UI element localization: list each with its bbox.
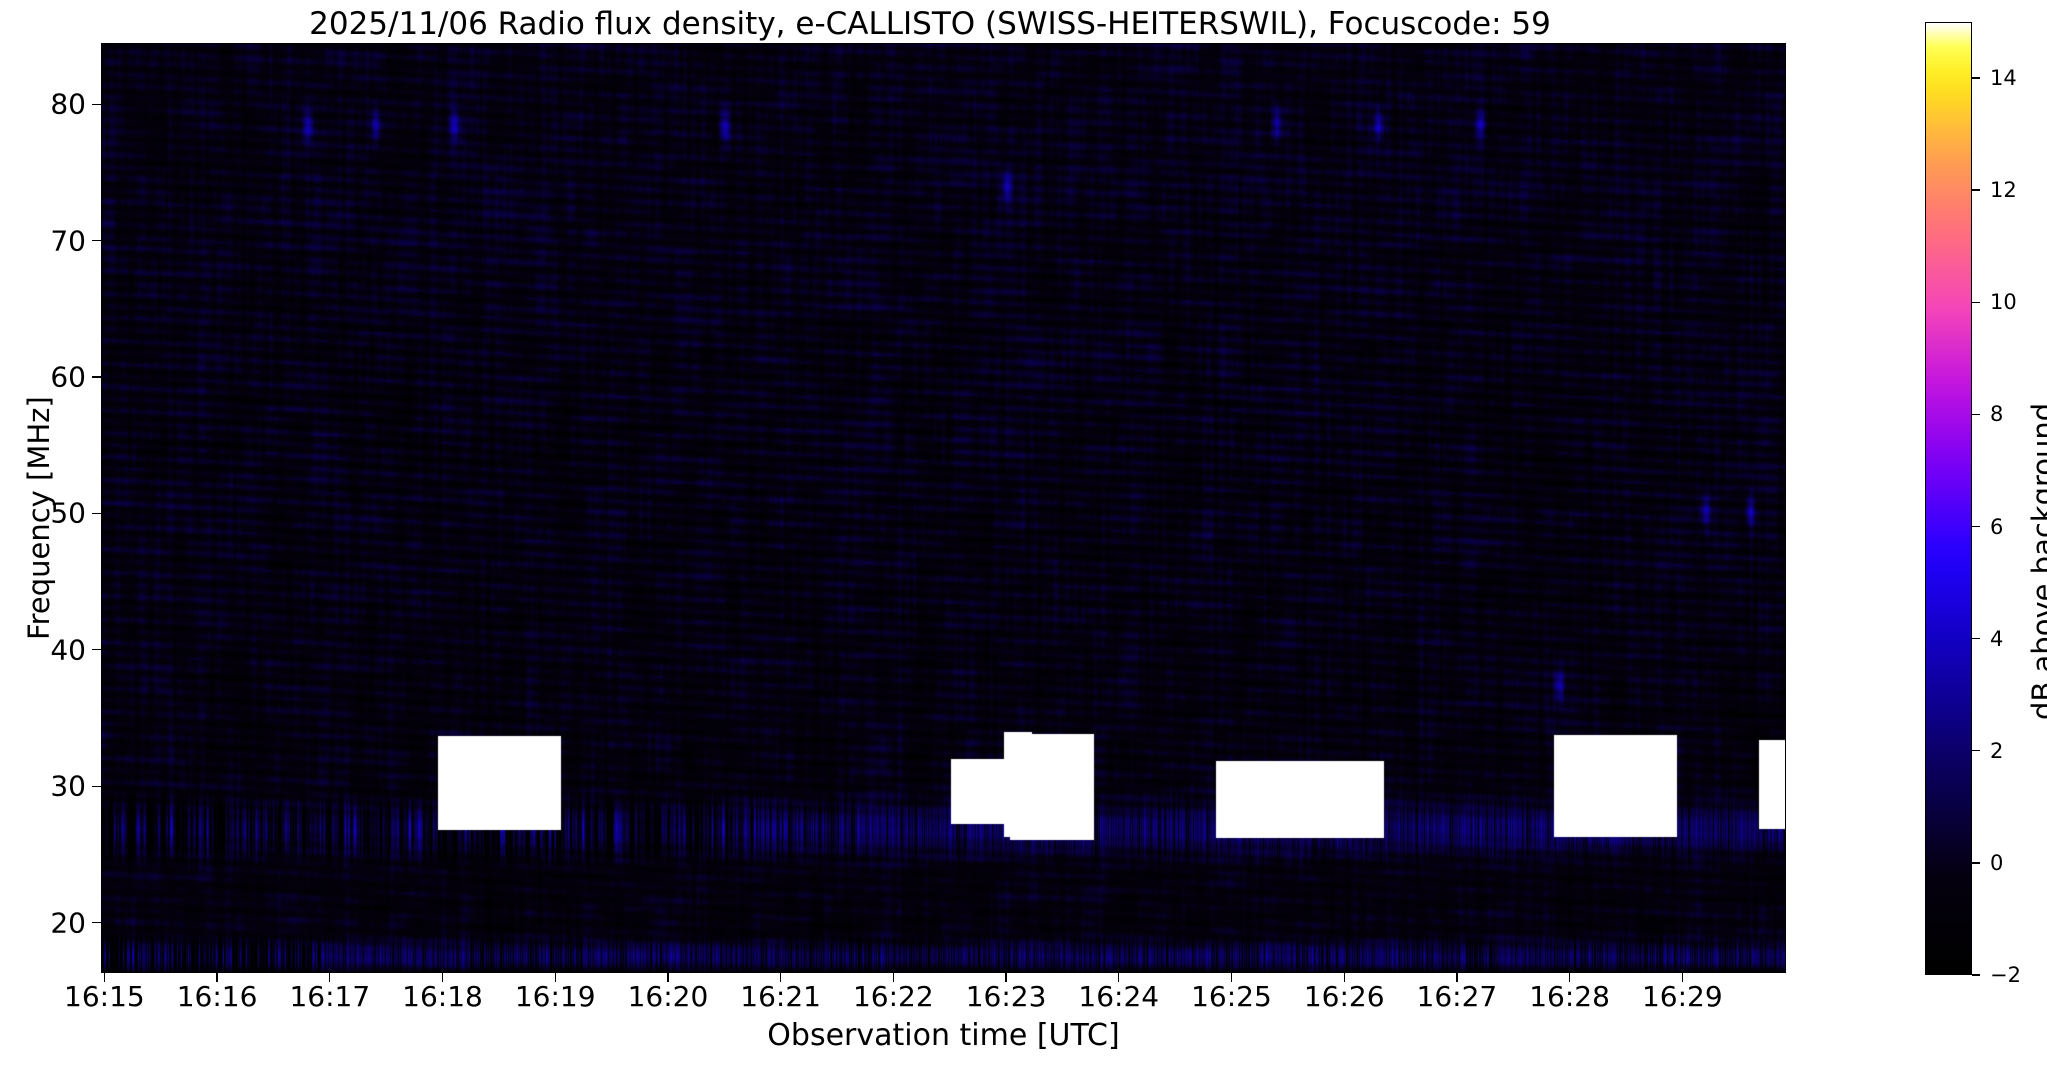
spectrogram-figure: 2025/11/06 Radio flux density, e-CALLIST… xyxy=(0,0,2047,1067)
x-tick-label: 16:26 xyxy=(1304,980,1385,1013)
colorbar xyxy=(1925,22,1972,975)
page-title: 2025/11/06 Radio flux density, e-CALLIST… xyxy=(0,6,1860,42)
colorbar-tick-mark xyxy=(1972,974,1980,975)
x-tick-label: 16:29 xyxy=(1642,980,1723,1013)
spectrogram-plot-area xyxy=(101,43,1786,973)
x-axis-label: Observation time [UTC] xyxy=(101,1018,1786,1053)
colorbar-gradient xyxy=(1926,23,1971,974)
y-tick-mark xyxy=(92,513,101,514)
x-tick-label: 16:27 xyxy=(1417,980,1498,1013)
x-tick-label: 16:17 xyxy=(289,980,370,1013)
colorbar-tick-label: 2 xyxy=(1990,739,2003,763)
colorbar-tick-mark xyxy=(1972,414,1980,415)
colorbar-tick-mark xyxy=(1972,862,1980,863)
y-tick-label: 60 xyxy=(50,361,86,394)
colorbar-tick-mark xyxy=(1972,750,1980,751)
x-tick-label: 16:19 xyxy=(515,980,596,1013)
y-tick-label: 80 xyxy=(50,88,86,121)
colorbar-tick-mark xyxy=(1972,526,1980,527)
colorbar-tick-mark xyxy=(1972,638,1980,639)
colorbar-tick-label: 8 xyxy=(1990,402,2003,426)
y-tick-mark xyxy=(92,104,101,105)
colorbar-tick-label: 14 xyxy=(1990,66,2017,90)
y-tick-mark xyxy=(92,649,101,650)
y-tick-mark xyxy=(92,240,101,241)
colorbar-tick-label: 4 xyxy=(1990,627,2003,651)
x-tick-label: 16:16 xyxy=(177,980,258,1013)
x-tick-label: 16:15 xyxy=(64,980,145,1013)
y-tick-mark xyxy=(92,786,101,787)
x-tick-label: 16:22 xyxy=(853,980,934,1013)
colorbar-tick-label: 10 xyxy=(1990,290,2017,314)
y-axis-label: Frequency [MHz] xyxy=(22,396,56,640)
y-tick-label: 70 xyxy=(50,224,86,257)
spectrogram-canvas xyxy=(102,44,1786,973)
colorbar-tick-label: −2 xyxy=(1990,963,2021,987)
colorbar-tick-mark xyxy=(1972,302,1980,303)
colorbar-tick-mark xyxy=(1972,189,1980,190)
colorbar-tick-label: 6 xyxy=(1990,515,2003,539)
x-tick-label: 16:20 xyxy=(628,980,709,1013)
x-tick-label: 16:18 xyxy=(402,980,483,1013)
colorbar-label: dB above background xyxy=(2026,403,2047,720)
x-tick-label: 16:25 xyxy=(1191,980,1272,1013)
colorbar-tick-label: 0 xyxy=(1990,851,2003,875)
x-tick-label: 16:21 xyxy=(740,980,821,1013)
x-tick-label: 16:24 xyxy=(1078,980,1159,1013)
y-tick-label: 30 xyxy=(50,770,86,803)
y-tick-mark xyxy=(92,922,101,923)
y-tick-mark xyxy=(92,376,101,377)
x-tick-label: 16:28 xyxy=(1529,980,1610,1013)
colorbar-tick-mark xyxy=(1972,77,1980,78)
y-tick-label: 20 xyxy=(50,906,86,939)
x-tick-label: 16:23 xyxy=(966,980,1047,1013)
colorbar-tick-label: 12 xyxy=(1990,178,2017,202)
